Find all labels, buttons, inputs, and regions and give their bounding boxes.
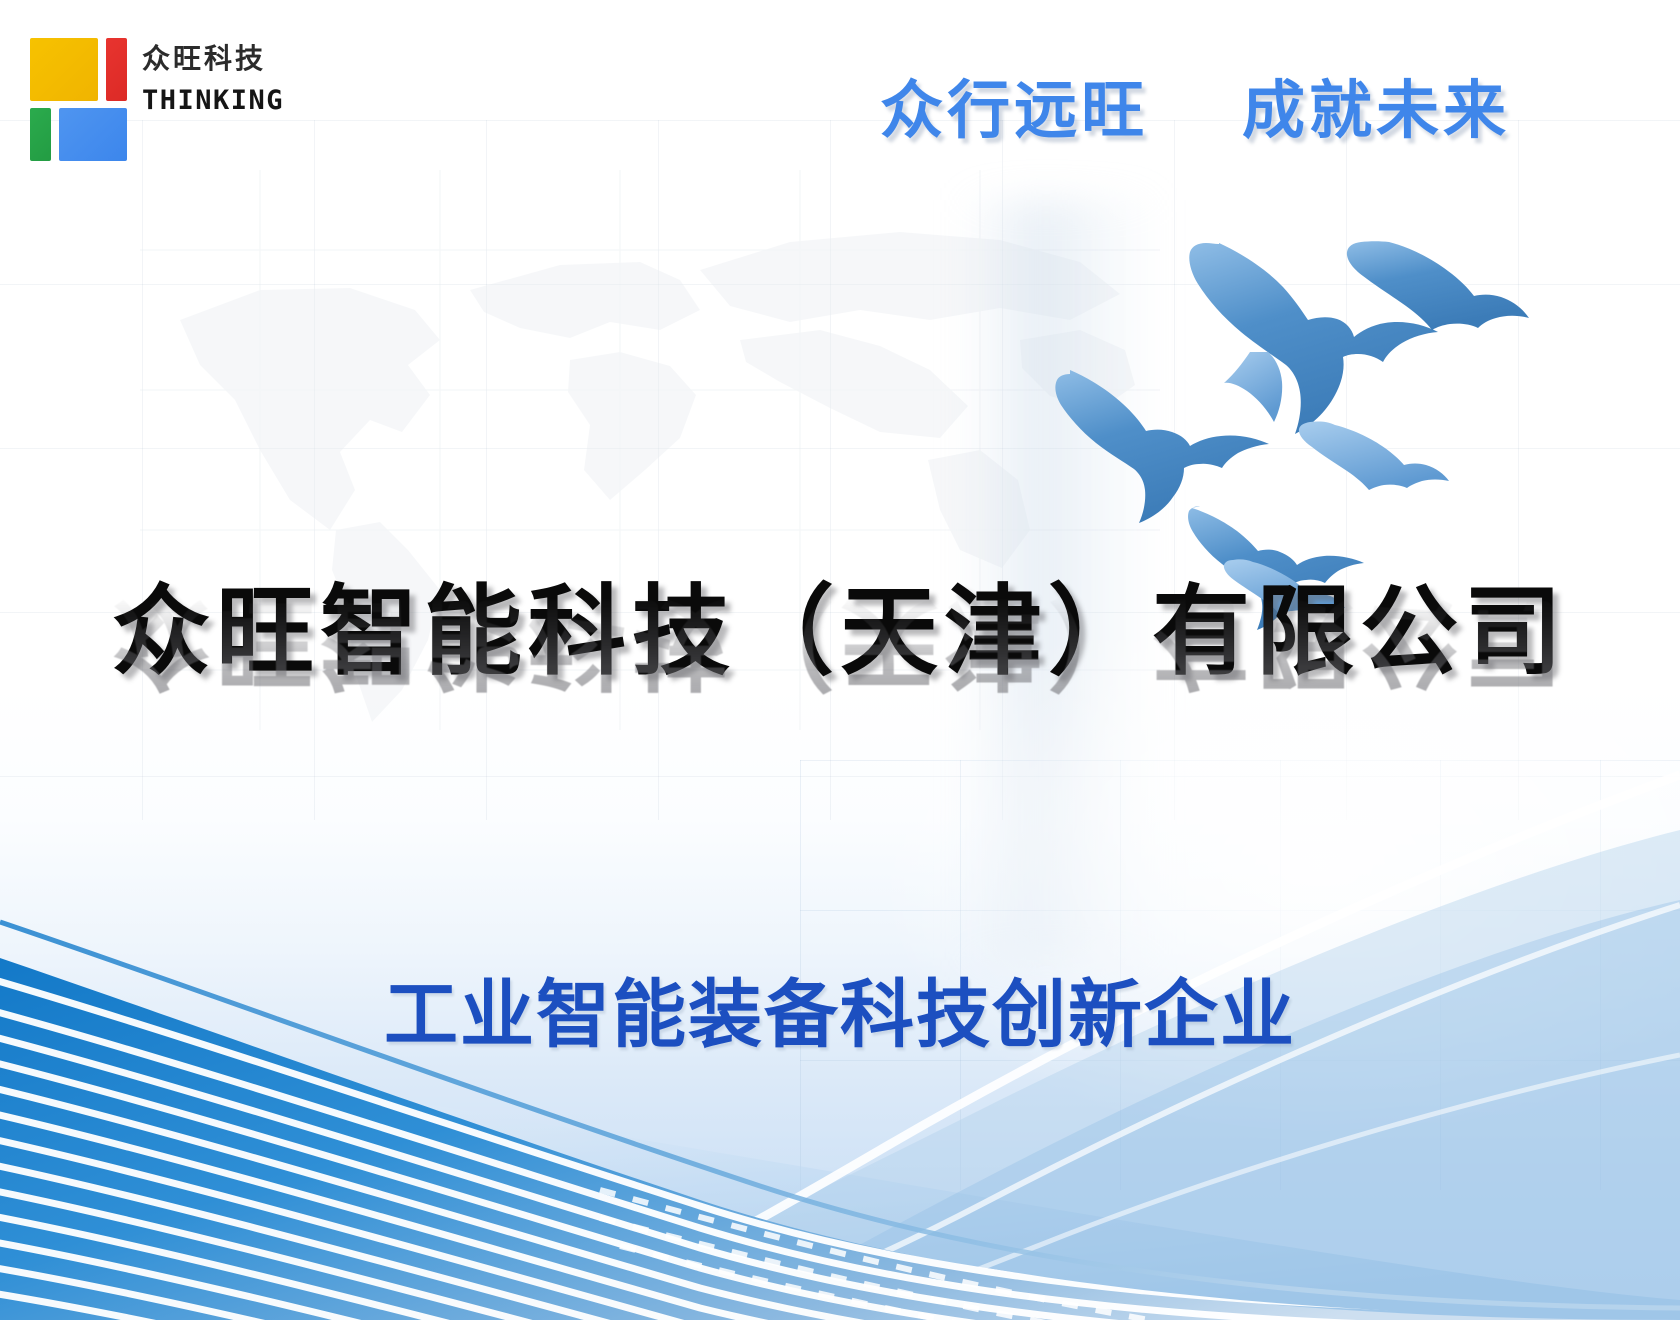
slogan-banner: 众行远旺 成就未来	[880, 60, 1510, 151]
company-logo[interactable]: 众旺科技 THINKING	[26, 32, 286, 160]
presentation-slide: 众旺科技 THINKING 众行远旺 成就未来 众旺智能科技（天津）有限公司 众…	[0, 0, 1680, 1320]
company-title-reflection: 众旺智能科技（天津）有限公司	[0, 586, 1680, 696]
logo-color-blocks	[26, 32, 130, 158]
slogan-part-right: 成就未来	[1242, 74, 1510, 147]
slogan-part-left: 众行远旺	[880, 74, 1148, 147]
logo-wordmark: 众旺科技 THINKING	[142, 42, 292, 117]
logo-chinese-name: 众旺科技	[142, 42, 292, 76]
logo-red-block	[106, 38, 127, 101]
logo-english-name: THINKING	[142, 84, 292, 118]
title-group: 众旺智能科技（天津）有限公司 众旺智能科技（天津）有限公司	[0, 578, 1680, 806]
company-subtitle: 工业智能装备科技创新企业	[0, 955, 1680, 1062]
logo-green-block	[30, 108, 51, 161]
logo-yellow-block	[30, 38, 98, 101]
logo-blue-block	[59, 108, 127, 161]
